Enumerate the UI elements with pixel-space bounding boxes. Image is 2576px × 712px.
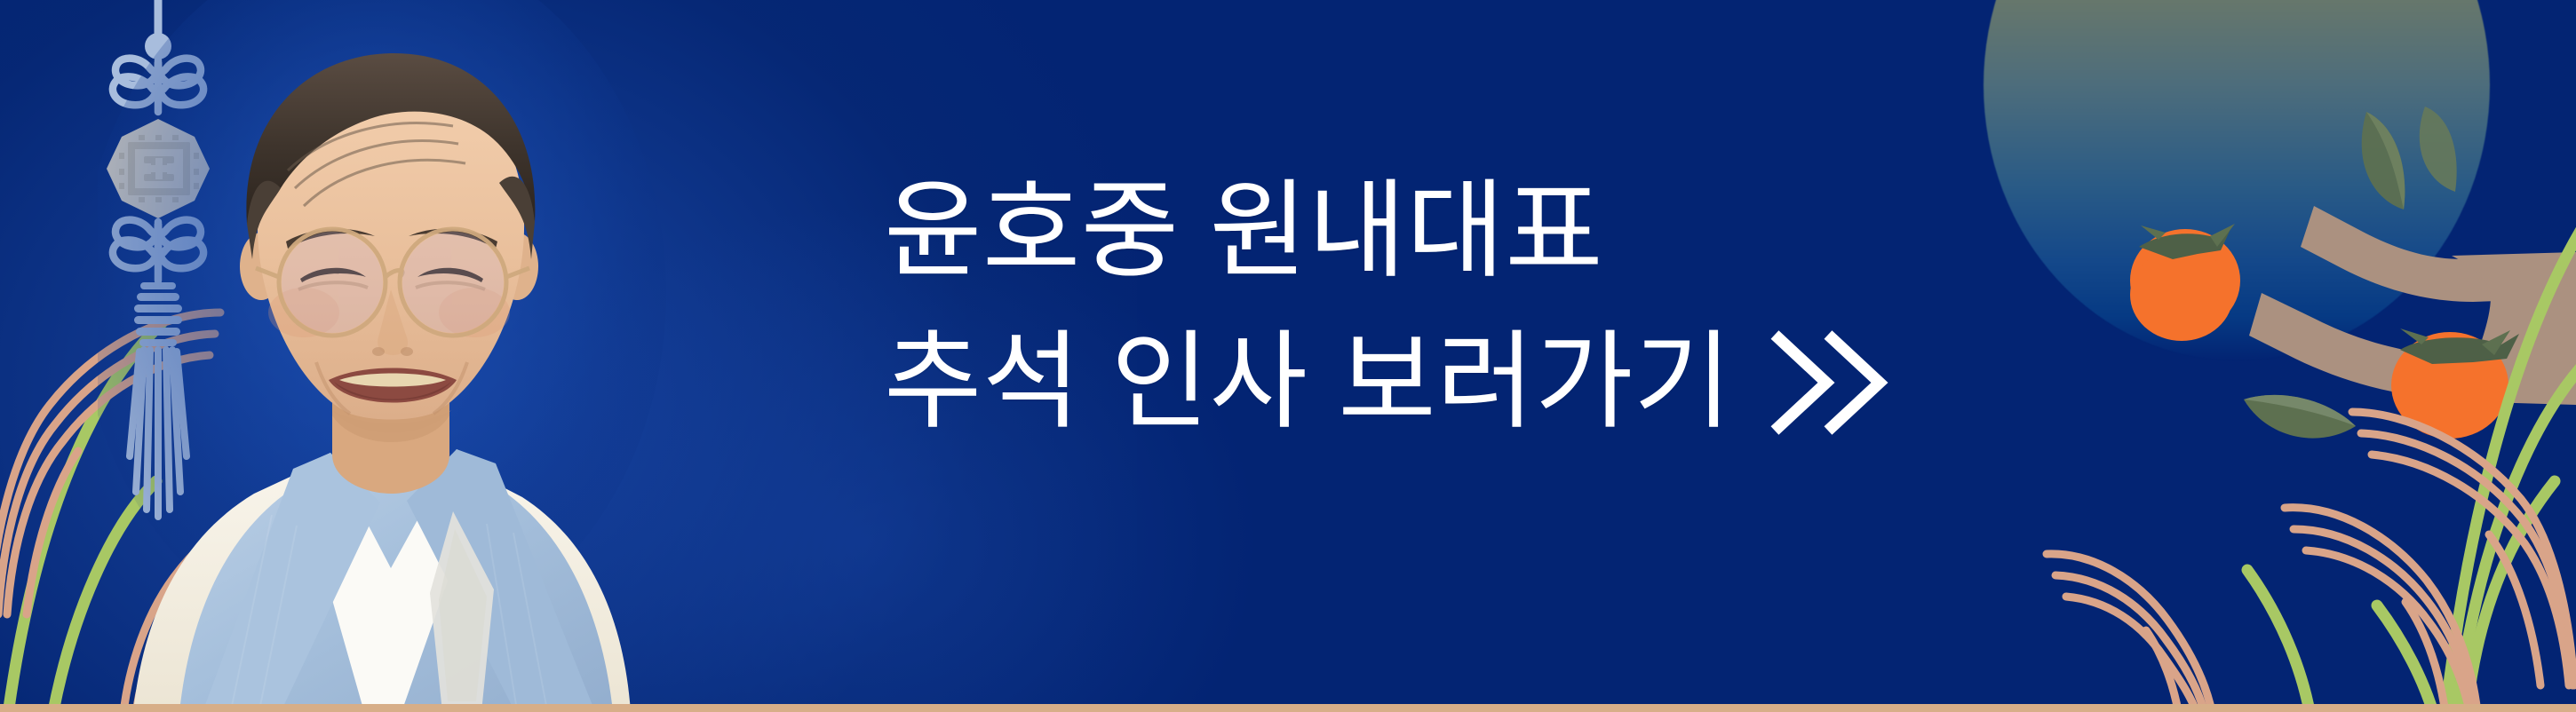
headline: 윤호중 원내대표 추석 인사 보러가기 <box>884 155 1888 458</box>
persimmon-branch-icon <box>2008 107 2576 479</box>
persimmon-fruit-icon <box>2391 328 2519 439</box>
chuseok-greeting-banner[interactable]: 윤호중 원내대표 추석 인사 보러가기 <box>0 0 2576 712</box>
ground-line <box>0 704 2576 712</box>
headline-line-2: 추석 인사 보러가기 <box>884 306 1732 457</box>
double-chevron-right-icon[interactable] <box>1755 329 1888 436</box>
headline-line-1: 윤호중 원내대표 <box>884 155 1888 306</box>
persimmon-fruit-icon <box>2130 224 2240 341</box>
portrait-yoon-ho-jung <box>98 0 666 712</box>
headline-line-2-wrap: 추석 인사 보러가기 <box>884 306 1888 457</box>
